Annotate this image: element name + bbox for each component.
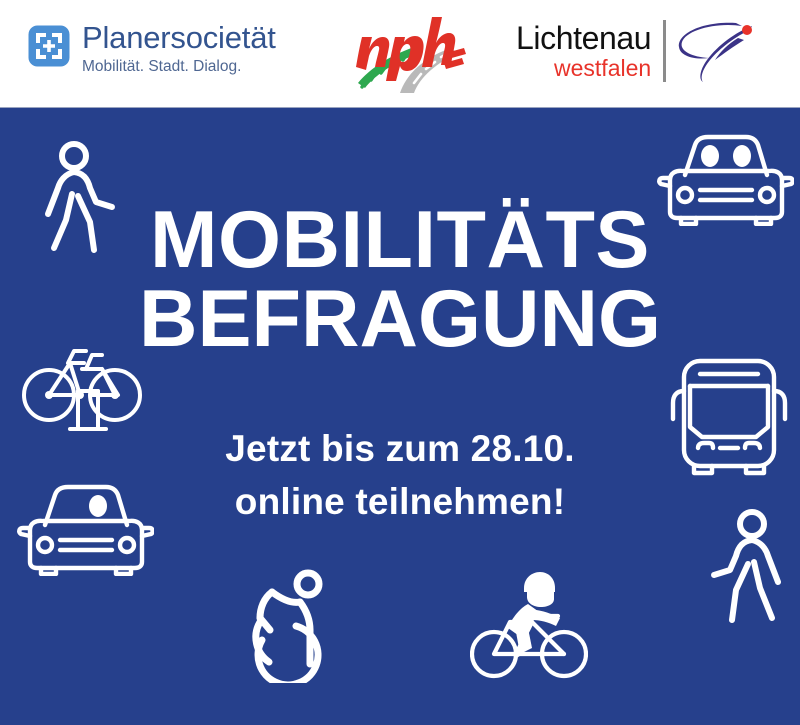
lichtenau-wordmark: Lichtenau westfalen [516,22,651,80]
page-subtitle: Jetzt bis zum 28.10. online teilnehmen! [0,423,800,528]
subtitle-line-1: Jetzt bis zum 28.10. [0,423,800,476]
lichtenau-divider [663,20,666,82]
planersocietaet-tagline: Mobilität. Stadt. Dialog. [82,59,276,75]
bicycle-parking-icon [22,333,154,433]
subtitle-line-2: online teilnehmen! [0,476,800,529]
nph-road-rail-icon [336,15,470,95]
logo-nph [336,15,470,95]
lichtenau-sub: westfalen [516,57,651,80]
cyclist-riding-icon [470,566,588,684]
lichtenau-swoosh-icon [676,18,760,84]
poster-body: MOBILITÄTS BEFRAGUNG Jetzt bis zum 28.10… [0,108,800,725]
planersocietaet-name: Planersocietät [82,22,276,53]
wheelchair-user-icon [236,568,348,683]
logo-planersocietaet: Planersocietät Mobilität. Stadt. Dialog. [28,22,276,75]
planersocietaet-wordmark: Planersocietät Mobilität. Stadt. Dialog. [82,22,276,75]
planersocietaet-square-mark-icon [28,25,70,67]
mobility-survey-poster: Planersocietät Mobilität. Stadt. Dialog. [0,0,800,725]
logo-header-band: Planersocietät Mobilität. Stadt. Dialog. [0,0,800,108]
pedestrian-walking-icon [32,138,132,258]
lichtenau-name: Lichtenau [516,22,651,54]
car-front-two-occupants-icon [654,128,794,226]
logo-lichtenau: Lichtenau westfalen [516,18,760,84]
